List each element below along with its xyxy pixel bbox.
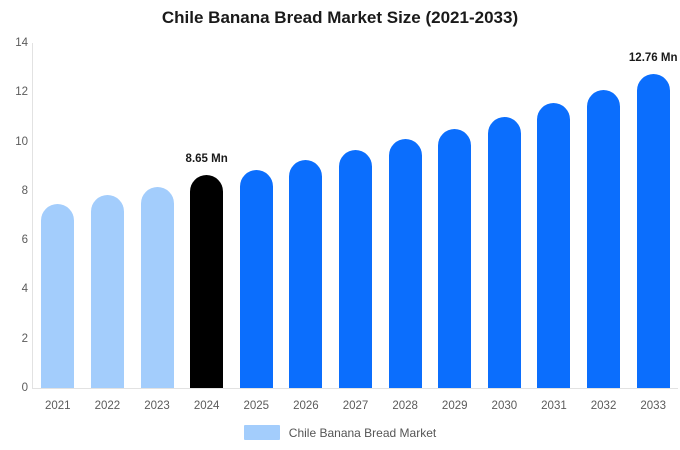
bars-layer: 20212022202320248.65 Mn20252026202720282…	[0, 0, 680, 450]
bar-2022[interactable]	[91, 195, 124, 388]
bar-2025[interactable]	[240, 170, 273, 388]
bar-2033[interactable]	[637, 74, 670, 388]
legend-swatch	[244, 425, 280, 440]
x-axis-tick-2031: 2031	[541, 400, 567, 412]
x-axis-tick-2025: 2025	[243, 400, 269, 412]
x-axis-tick-2030: 2030	[492, 400, 518, 412]
bar-2030[interactable]	[488, 117, 521, 388]
x-axis-tick-2032: 2032	[591, 400, 617, 412]
chart-legend: Chile Banana Bread Market	[0, 425, 680, 440]
bar-value-label-2033: 12.76 Mn	[629, 52, 678, 64]
bar-2031[interactable]	[537, 103, 570, 388]
x-axis-tick-2033: 2033	[640, 400, 666, 412]
bar-2021[interactable]	[41, 204, 74, 388]
bar-2024[interactable]	[190, 175, 223, 388]
bar-2032[interactable]	[587, 90, 620, 388]
x-axis-tick-2027: 2027	[343, 400, 369, 412]
x-axis-tick-2021: 2021	[45, 400, 71, 412]
bar-2028[interactable]	[389, 139, 422, 388]
bar-chart: Chile Banana Bread Market Size (2021-203…	[0, 0, 680, 450]
x-axis-tick-2022: 2022	[95, 400, 121, 412]
bar-2026[interactable]	[289, 160, 322, 388]
bar-2027[interactable]	[339, 150, 372, 388]
x-axis-tick-2024: 2024	[194, 400, 220, 412]
bar-2029[interactable]	[438, 129, 471, 388]
x-axis-tick-2026: 2026	[293, 400, 319, 412]
x-axis-tick-2023: 2023	[144, 400, 170, 412]
x-axis-tick-2028: 2028	[392, 400, 418, 412]
legend-label: Chile Banana Bread Market	[289, 426, 436, 440]
bar-value-label-2024: 8.65 Mn	[186, 153, 228, 165]
bar-2023[interactable]	[141, 187, 174, 388]
x-axis-tick-2029: 2029	[442, 400, 468, 412]
